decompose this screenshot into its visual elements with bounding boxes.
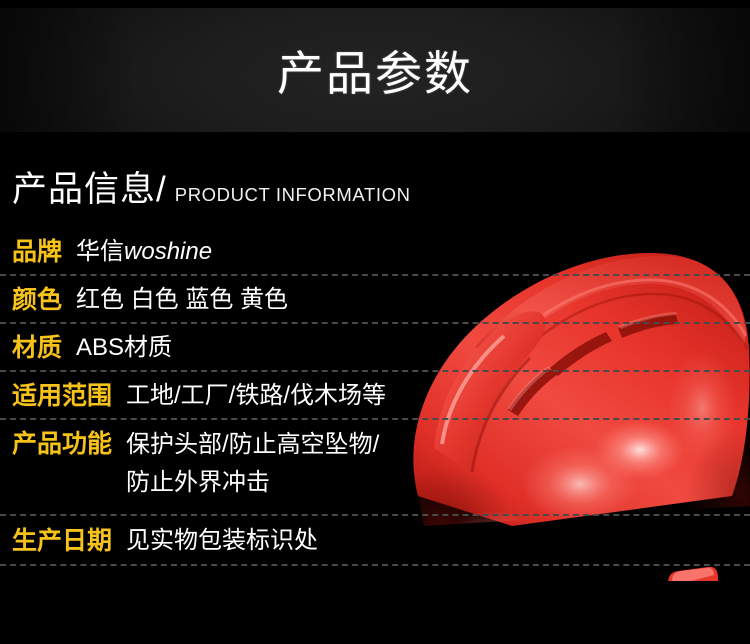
spec-row-color: 颜色 红色 白色 蓝色 黄色 (0, 276, 750, 324)
page-title: 产品参数 (0, 0, 750, 140)
section-heading: 产品信息 / PRODUCT INFORMATION (12, 172, 411, 207)
spec-row-production-date: 生产日期 见实物包装标识处 (0, 516, 750, 566)
spec-row-brand: 品牌 华信woshine (0, 228, 750, 276)
spec-label-brand: 品牌 (12, 240, 62, 265)
brand-latin: woshine (124, 238, 212, 265)
spec-value-function: 保护头部/防止高空坠物/ 防止外界冲击 (126, 426, 379, 503)
spec-list: 品牌 华信woshine 颜色 红色 白色 蓝色 黄色 材质 ABS材质 适用范… (0, 228, 750, 566)
spec-value-material: ABS材质 (76, 333, 172, 364)
spec-value-application: 工地/工厂/铁路/伐木场等 (126, 381, 386, 412)
spec-row-application: 适用范围 工地/工厂/铁路/伐木场等 (0, 372, 750, 420)
spec-label-color: 颜色 (12, 288, 62, 313)
spec-value-brand: 华信woshine (76, 237, 212, 268)
spec-label-function: 产品功能 (12, 432, 112, 457)
helmet-rear-lug (668, 567, 718, 581)
spec-row-function: 产品功能 保护头部/防止高空坠物/ 防止外界冲击 (0, 420, 750, 516)
product-spec-page: 产品参数 (0, 0, 750, 644)
spec-row-material: 材质 ABS材质 (0, 324, 750, 372)
spec-value-color: 红色 白色 蓝色 黄色 (76, 285, 288, 316)
row-divider (0, 564, 750, 566)
page-banner: 产品参数 (0, 0, 750, 140)
spec-value-production-date: 见实物包装标识处 (126, 526, 318, 557)
spec-label-application: 适用范围 (12, 384, 112, 409)
section-heading-slash: / (156, 172, 167, 207)
spec-label-production-date: 生产日期 (12, 529, 112, 554)
brand-cn: 华信 (76, 238, 124, 265)
spec-label-material: 材质 (12, 336, 62, 361)
section-heading-en: PRODUCT INFORMATION (175, 186, 411, 205)
section-heading-cn: 产品信息 (12, 172, 156, 207)
